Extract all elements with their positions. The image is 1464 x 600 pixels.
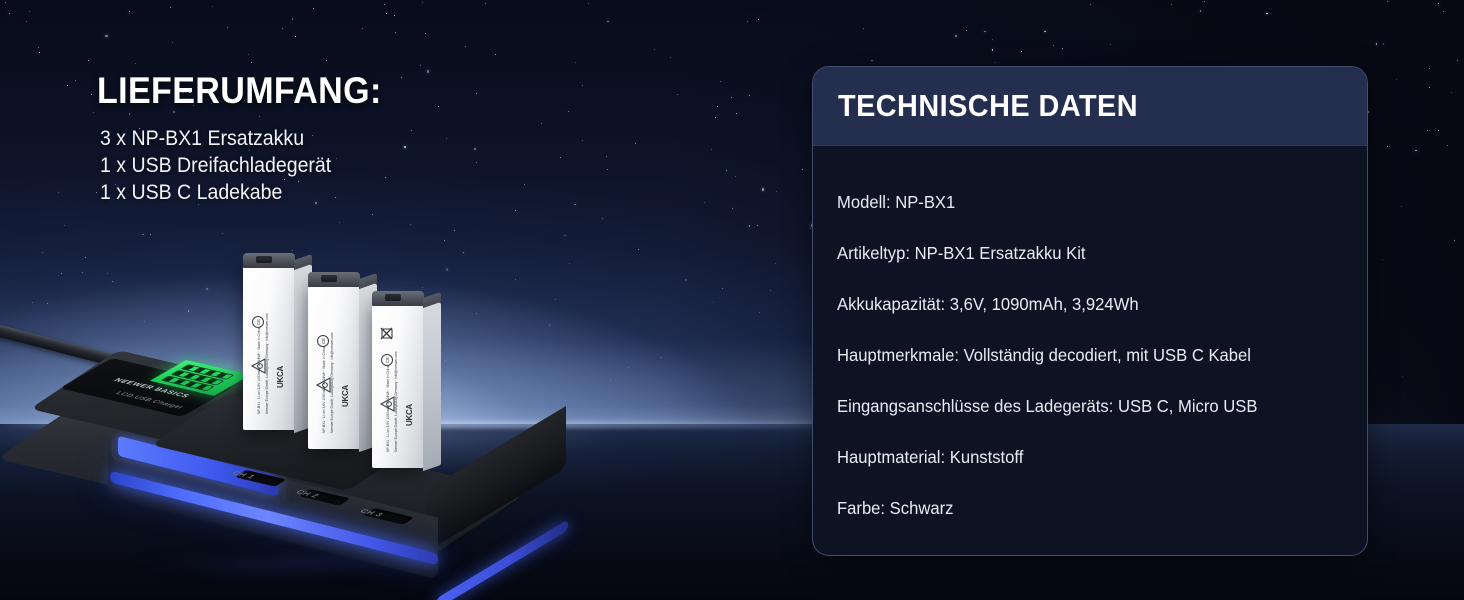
kit-headline: LIEFERUMFANG: <box>97 72 483 111</box>
ukca-mark-2: UKCA <box>341 385 350 407</box>
scene-background: NEEWER BASICS LCD USB Charger CH 1 CH 2 … <box>0 0 1464 600</box>
recycle-mark-3 <box>380 396 396 412</box>
battery-label-text-2: NP-BX1 · Li-ion 3,6V 1090mAh 3,924Wh · M… <box>322 283 327 433</box>
battery-importer-text-2: Neewer Europe GmbH, Ludwigsburg Germany … <box>330 283 335 433</box>
battery-contact-2 <box>321 275 337 282</box>
spec-row: Akkukapazität: 3,6V, 1090mAh, 3,924Wh <box>837 294 1318 315</box>
ce-mark-1: CE <box>252 316 264 328</box>
charger-right-side <box>426 406 566 552</box>
recycle-mark-1 <box>251 358 267 374</box>
kit-item: 1 x USB C Ladekabe <box>100 179 488 206</box>
battery-side-face-3 <box>423 302 441 471</box>
ukca-mark-3: UKCA <box>405 404 414 426</box>
spec-row: Farbe: Schwarz <box>837 498 1318 519</box>
spec-row: Hauptmerkmale: Vollständig decodiert, mi… <box>837 345 1318 366</box>
ce-mark-3: CE <box>381 354 393 366</box>
battery-contact-1 <box>256 256 272 263</box>
battery-label-text-1: NP-BX1 · Li-ion 3,6V 1090mAh 3,924Wh · M… <box>257 264 262 414</box>
technical-data-title: TECHNISCHE DATEN <box>838 88 1138 124</box>
battery-pack-1: NP-BX1 · Li-ion 3,6V 1090mAh 3,924Wh · M… <box>243 262 295 430</box>
wheelie-bin-mark-3 <box>378 325 395 342</box>
technical-data-list: Modell: NP-BX1 Artikeltyp: NP-BX1 Ersatz… <box>813 146 1367 519</box>
kit-item: 3 x NP-BX1 Ersatzakku <box>100 125 488 152</box>
kit-item: 1 x USB Dreifachladegerät <box>100 152 488 179</box>
spec-row: Artikeltyp: NP-BX1 Ersatzakku Kit <box>837 243 1318 264</box>
technical-data-header: TECHNISCHE DATEN <box>813 67 1367 146</box>
battery-pack-2: NP-BX1 · Li-ion 3,6V 1090mAh 3,924Wh · M… <box>308 281 360 449</box>
battery-importer-text-1: Neewer Europe GmbH, Ludwigsburg Germany … <box>265 264 270 414</box>
recycle-mark-2 <box>316 377 332 393</box>
ukca-mark-1: UKCA <box>276 366 285 388</box>
technical-data-panel: TECHNISCHE DATEN Modell: NP-BX1 Artikelt… <box>812 66 1368 556</box>
kit-items-list: 3 x NP-BX1 Ersatzakku 1 x USB Dreifachla… <box>100 125 517 206</box>
battery-pack-3: NP-BX1 · Li-ion 3,6V 1090mAh 3,924Wh · M… <box>372 300 424 468</box>
kit-contents-block: LIEFERUMFANG: 3 x NP-BX1 Ersatzakku 1 x … <box>97 72 517 206</box>
spec-row: Eingangsanschlüsse des Ladegeräts: USB C… <box>837 396 1318 417</box>
battery-contact-3 <box>385 294 401 301</box>
spec-row: Modell: NP-BX1 <box>837 192 1318 213</box>
spec-row: Hauptmaterial: Kunststoff <box>837 447 1318 468</box>
ce-mark-2: CE <box>317 335 329 347</box>
